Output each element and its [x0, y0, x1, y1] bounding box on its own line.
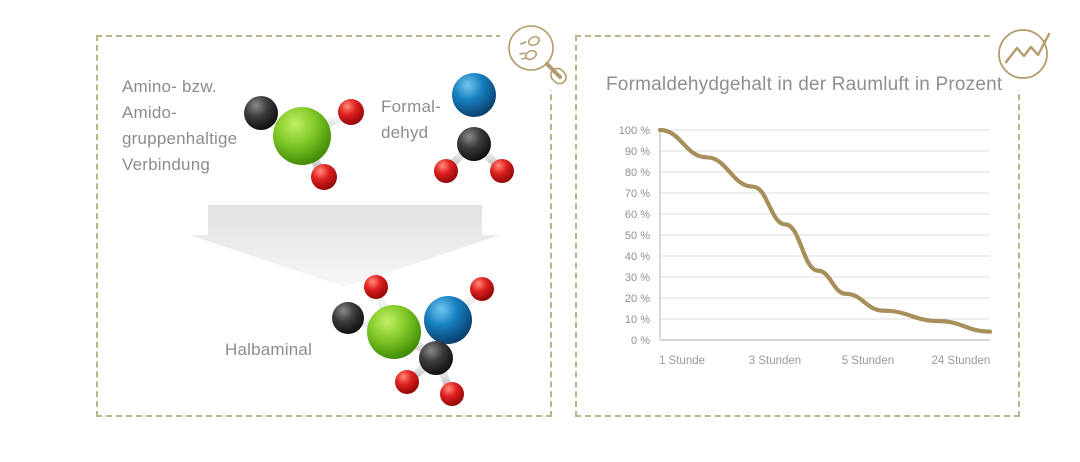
- y-axis-tick-label: 90 %: [625, 146, 650, 158]
- x-axis-tick-label: 3 Stunden: [749, 355, 801, 367]
- chart-title: Formaldehydgehalt in der Raumluft in Pro…: [606, 74, 1002, 96]
- halbaminal-molecule: [328, 268, 518, 408]
- y-axis-tick-label: 0 %: [631, 335, 650, 347]
- amino-compound-molecule: [236, 78, 384, 194]
- y-axis-tick-label: 50 %: [625, 230, 650, 242]
- x-axis-tick-label: 1 Stunde: [659, 355, 705, 367]
- y-axis-tick-label: 80 %: [625, 167, 650, 179]
- y-axis-tick-label: 30 %: [625, 272, 650, 284]
- chart-data-line: [660, 130, 990, 332]
- y-axis-tick-label: 10 %: [625, 314, 650, 326]
- y-axis-tick-label: 70 %: [625, 188, 650, 200]
- x-axis-tick-label: 5 Stunden: [842, 355, 894, 367]
- y-axis-tick-label: 100 %: [619, 125, 650, 137]
- y-axis-tick-label: 40 %: [625, 251, 650, 263]
- formaldehyde-decay-chart: 100 %90 %80 %70 %60 %50 %40 %30 %20 %10 …: [598, 118, 998, 383]
- y-axis-tick-label: 20 %: [625, 293, 650, 305]
- formaldehyde-molecule: [428, 68, 520, 188]
- x-axis-tick-label: 24 Stunden: [931, 355, 990, 367]
- y-axis-tick-label: 60 %: [625, 209, 650, 221]
